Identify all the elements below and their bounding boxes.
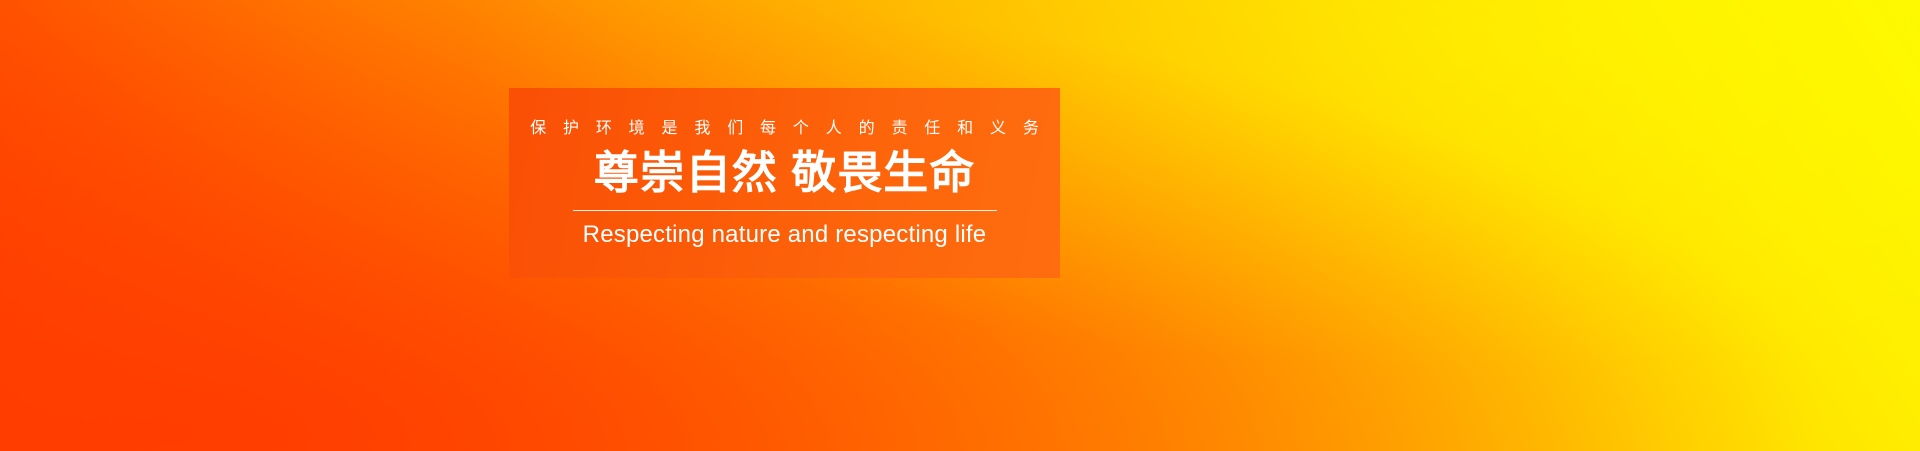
environment-awareness-banner: 保 护 环 境 是 我 们 每 个 人 的 责 任 和 义 务 尊崇自然 敬畏生…: [0, 0, 1920, 451]
card-kicker-chinese: 保 护 环 境 是 我 们 每 个 人 的 责 任 和 义 务: [524, 121, 1045, 137]
card-headline-chinese: 尊崇自然 敬畏生命: [594, 149, 976, 197]
slogan-card: 保 护 环 境 是 我 们 每 个 人 的 责 任 和 义 务 尊崇自然 敬畏生…: [509, 88, 1060, 278]
card-divider: [573, 210, 997, 211]
card-tagline-english: Respecting nature and respecting life: [583, 223, 987, 247]
